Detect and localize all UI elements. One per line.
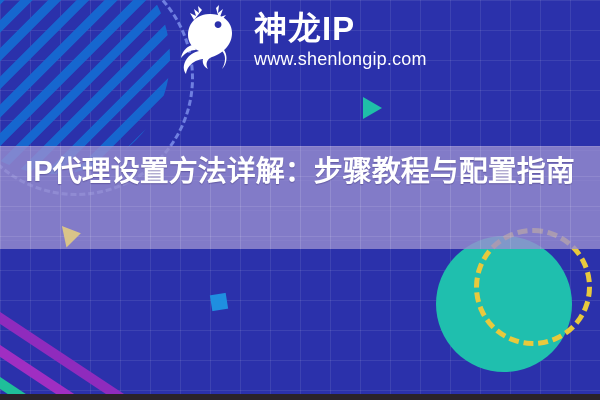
blue-square-decoration <box>210 293 228 311</box>
dragon-head-logo-icon <box>172 4 246 76</box>
promo-banner: 神龙IP www.shenlongip.com IP代理设置方法详解：步骤教程与… <box>0 0 600 400</box>
brand-name: 神龙IP <box>254 11 427 47</box>
brand-logo-text: 神龙IP www.shenlongip.com <box>254 9 427 71</box>
play-triangle-icon <box>363 97 382 119</box>
bottom-edge-bar <box>0 394 600 400</box>
headline-text: IP代理设置方法详解：步骤教程与配置指南 <box>0 150 600 194</box>
brand-url: www.shenlongip.com <box>254 47 427 71</box>
brand-logo: 神龙IP www.shenlongip.com <box>172 4 427 76</box>
